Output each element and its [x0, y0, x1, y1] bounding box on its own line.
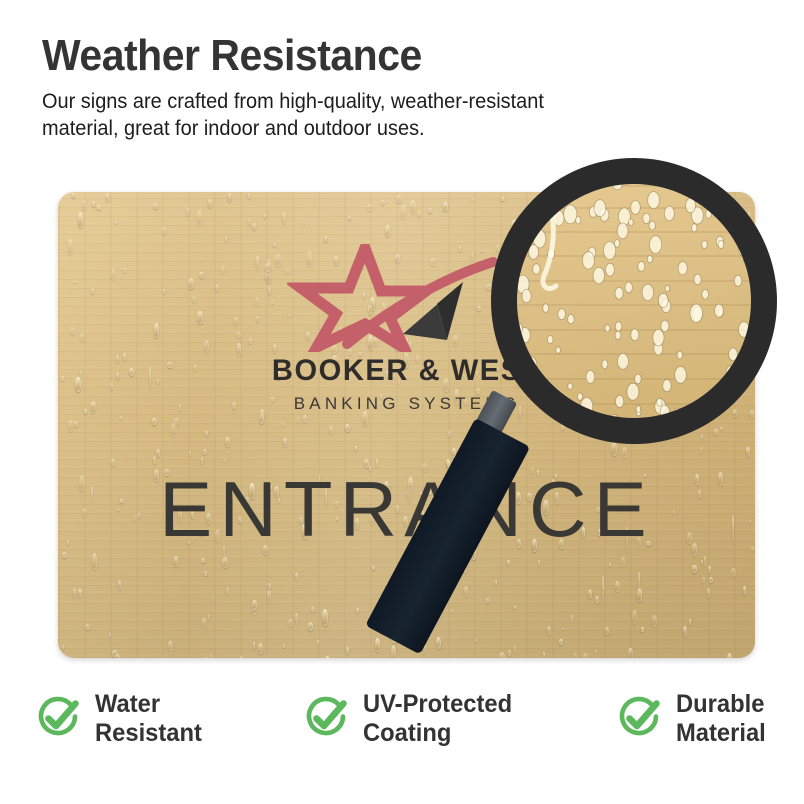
- water-droplet: [82, 200, 86, 210]
- water-droplet: [452, 448, 456, 459]
- water-droplet: [464, 586, 468, 597]
- water-droplet: [355, 446, 357, 451]
- water-droplet: [391, 637, 397, 644]
- water-droplet: [731, 568, 736, 576]
- water-droplet: [710, 230, 712, 235]
- water-droplet: [258, 643, 263, 654]
- feature-label: UV-Protected Coating: [363, 690, 512, 748]
- water-droplet: [633, 428, 637, 433]
- water-droplet: [208, 199, 212, 208]
- water-droplet: [74, 421, 78, 427]
- feature-label-line2: Coating: [363, 719, 512, 748]
- water-droplet: [280, 225, 282, 227]
- water-droplet: [559, 639, 564, 645]
- water-droplet: [436, 637, 441, 649]
- water-droplet: [401, 205, 407, 220]
- water-droplet: [385, 225, 391, 237]
- water-droplet: [254, 613, 256, 616]
- water-droplet: [499, 652, 504, 658]
- water-droplet: [479, 427, 482, 435]
- check-circle-icon: [615, 693, 665, 743]
- water-droplet: [253, 642, 255, 648]
- water-droplet: [223, 458, 226, 461]
- water-droplet: [259, 414, 265, 425]
- water-droplet: [679, 426, 681, 430]
- water-droplet: [240, 656, 243, 658]
- water-droplet: [662, 196, 665, 204]
- water-droplet: [486, 598, 489, 603]
- water-droplet: [700, 447, 702, 453]
- water-droplet: [203, 449, 207, 455]
- check-circle-icon: [34, 693, 84, 743]
- water-droplet: [465, 452, 468, 457]
- water-droplet: [615, 229, 620, 244]
- water-droplet: [637, 588, 642, 602]
- water-droplet: [252, 223, 255, 229]
- water-droplet: [202, 618, 206, 629]
- water-droplet: [707, 588, 711, 597]
- water-droplet: [153, 203, 158, 209]
- water-droplet: [386, 582, 391, 593]
- water-droplet: [85, 624, 90, 630]
- water-droplet: [208, 615, 210, 619]
- water-droplet: [348, 216, 352, 221]
- feature-label: Water Resistant: [95, 690, 202, 748]
- water-droplet: [451, 609, 453, 613]
- water-droplet: [152, 418, 157, 425]
- water-droplet: [709, 577, 714, 583]
- water-droplet: [514, 646, 516, 653]
- water-streak: [638, 572, 640, 591]
- water-droplet: [683, 626, 687, 637]
- water-droplet: [682, 221, 685, 225]
- lens-water-droplet: [612, 175, 622, 190]
- water-droplet: [588, 589, 592, 599]
- water-droplet: [632, 610, 637, 624]
- water-droplet: [743, 586, 746, 595]
- water-droplet: [391, 645, 397, 658]
- water-droplet: [168, 641, 173, 651]
- water-droplet: [118, 580, 121, 590]
- water-droplet: [174, 418, 179, 425]
- water-droplet: [62, 552, 67, 558]
- water-droplet: [197, 210, 202, 225]
- water-droplet: [303, 415, 307, 423]
- water-droplet: [566, 229, 568, 234]
- water-droplet: [115, 220, 117, 224]
- water-droplet: [628, 648, 632, 658]
- water-droplet: [62, 645, 64, 649]
- water-droplet: [264, 214, 266, 218]
- water-droplet: [615, 581, 620, 592]
- water-droplet: [325, 656, 331, 658]
- water-droplet: [622, 447, 627, 458]
- star-swoosh-icon: [287, 244, 527, 352]
- feature-label-line2: Material: [676, 719, 766, 748]
- water-droplet: [547, 626, 551, 635]
- water-droplet: [317, 640, 319, 645]
- brand-tagline: BANKING SYSTEMS: [58, 394, 755, 414]
- sign-board: BOOKER & WEST BANKING SYSTEMS ENTRANCE: [58, 192, 755, 658]
- water-droplet: [381, 200, 386, 206]
- water-droplet: [186, 207, 189, 216]
- water-droplet: [153, 456, 156, 464]
- water-droplet: [751, 547, 754, 551]
- water-droplet: [156, 449, 160, 457]
- water-droplet: [508, 650, 511, 656]
- water-droplet: [621, 430, 626, 437]
- water-droplet: [410, 200, 415, 214]
- water-droplet: [428, 208, 431, 213]
- water-droplet: [702, 208, 705, 215]
- water-droplet: [112, 650, 118, 658]
- water-droplet: [605, 627, 609, 635]
- water-droplet: [248, 218, 251, 225]
- water-droplet: [288, 619, 293, 628]
- water-droplet: [212, 597, 214, 601]
- water-droplet: [268, 583, 271, 589]
- water-droplet: [78, 589, 81, 597]
- water-droplet: [201, 458, 204, 464]
- water-droplet: [689, 619, 691, 625]
- water-droplet: [171, 423, 177, 438]
- water-droplet: [701, 435, 703, 440]
- water-droplet: [574, 653, 577, 658]
- water-droplet: [282, 423, 284, 426]
- water-droplet: [120, 416, 123, 421]
- water-droplet: [226, 587, 229, 595]
- water-droplet: [222, 557, 227, 568]
- water-droplet: [283, 644, 285, 648]
- water-droplet: [475, 639, 477, 642]
- water-droplet: [487, 446, 489, 451]
- water-droplet: [111, 459, 116, 466]
- water-droplet: [448, 431, 451, 438]
- water-droplet: [308, 622, 313, 631]
- water-droplet: [472, 198, 474, 201]
- water-streak: [295, 613, 298, 624]
- water-droplet: [205, 431, 208, 436]
- water-droplet: [372, 566, 375, 570]
- water-droplet: [561, 425, 564, 430]
- water-droplet: [641, 627, 644, 632]
- water-droplet: [418, 211, 420, 217]
- water-droplet: [675, 423, 678, 427]
- water-droplet: [282, 212, 287, 226]
- sign-main-text: ENTRANCE: [58, 470, 755, 548]
- water-droplet: [267, 590, 272, 602]
- water-droplet: [538, 560, 541, 565]
- water-droplet: [689, 200, 693, 206]
- page-title: Weather Resistance: [42, 30, 684, 82]
- water-droplet: [692, 565, 696, 573]
- water-droplet: [609, 563, 611, 567]
- water-droplet: [511, 220, 516, 231]
- water-droplet: [253, 609, 255, 613]
- subtitle-line-1: Our signs are crafted from high-quality,…: [42, 88, 698, 115]
- water-droplet: [676, 428, 680, 438]
- water-droplet: [700, 216, 703, 221]
- water-droplet: [92, 201, 95, 207]
- water-droplet: [248, 193, 250, 199]
- water-droplet: [396, 195, 401, 204]
- water-streak: [748, 211, 750, 225]
- company-logo: BOOKER & WEST BANKING SYSTEMS: [58, 244, 755, 414]
- feature-label: Durable Material: [676, 690, 766, 748]
- water-droplet: [106, 193, 109, 203]
- water-droplet: [604, 222, 607, 225]
- water-droplet: [201, 558, 205, 563]
- water-droplet: [501, 197, 504, 201]
- water-droplet: [570, 615, 573, 622]
- water-droplet: [97, 205, 101, 210]
- water-droplet: [507, 560, 510, 566]
- water-droplet: [595, 650, 597, 653]
- water-droplet: [727, 653, 732, 658]
- water-droplet: [92, 553, 98, 569]
- water-droplet: [225, 237, 227, 241]
- water-droplet: [72, 193, 75, 198]
- feature-badge-row: Water Resistant UV-Protected Coating Dur…: [0, 690, 804, 770]
- water-droplet: [73, 588, 76, 597]
- water-droplet: [228, 193, 231, 202]
- water-droplet: [162, 227, 167, 235]
- water-droplet: [109, 633, 111, 636]
- page-subtitle: Our signs are crafted from high-quality,…: [42, 88, 698, 142]
- water-droplet: [78, 212, 84, 227]
- water-droplet: [652, 615, 657, 627]
- water-droplet: [464, 568, 466, 573]
- water-droplet: [189, 451, 191, 456]
- header-block: Weather Resistance Our signs are crafted…: [42, 30, 732, 142]
- feature-label-line1: Water: [95, 690, 202, 719]
- water-streak: [602, 576, 604, 607]
- water-droplet: [611, 442, 616, 456]
- water-droplet: [225, 437, 230, 447]
- water-droplet: [514, 606, 516, 610]
- water-droplet: [68, 420, 73, 433]
- water-droplet: [720, 427, 723, 430]
- water-droplet: [611, 227, 614, 235]
- water-droplet: [623, 215, 625, 218]
- water-droplet: [174, 556, 179, 567]
- water-droplet: [295, 573, 298, 580]
- water-droplet: [252, 600, 257, 610]
- water-droplet: [303, 221, 305, 224]
- water-droplet: [401, 622, 405, 631]
- water-droplet: [562, 628, 564, 630]
- water-droplet: [324, 236, 327, 242]
- water-droplet: [495, 580, 497, 585]
- product-feature-graphic: Weather Resistance Our signs are crafted…: [0, 0, 804, 804]
- water-droplet: [543, 652, 545, 658]
- water-droplet: [205, 657, 208, 658]
- star-emblem: [58, 244, 755, 352]
- water-droplet: [697, 223, 702, 230]
- water-droplet: [701, 560, 703, 564]
- water-streak: [704, 556, 706, 567]
- water-droplet: [329, 426, 333, 434]
- water-droplet: [283, 438, 288, 447]
- water-droplet: [583, 653, 588, 658]
- lens-water-droplet: [610, 175, 616, 184]
- feature-label-line1: Durable: [676, 690, 766, 719]
- water-droplet: [422, 644, 426, 654]
- water-droplet: [204, 571, 207, 576]
- water-droplet: [746, 447, 750, 456]
- water-droplet: [346, 647, 350, 654]
- water-droplet: [345, 424, 350, 431]
- feature-label-line1: UV-Protected: [363, 690, 512, 719]
- water-droplet: [708, 566, 711, 573]
- water-droplet: [528, 216, 530, 218]
- water-droplet: [542, 206, 544, 212]
- water-droplet: [375, 638, 380, 653]
- brand-name: BOOKER & WEST: [68, 354, 744, 388]
- water-droplet: [702, 577, 705, 584]
- check-circle-icon: [302, 693, 352, 743]
- water-droplet: [621, 557, 626, 566]
- water-droplet: [170, 652, 172, 654]
- water-droplet: [210, 654, 213, 658]
- water-droplet: [714, 429, 717, 435]
- feature-badge: Durable Material: [615, 690, 770, 748]
- water-droplet: [439, 573, 443, 580]
- water-droplet: [311, 607, 314, 611]
- feature-badge: UV-Protected Coating: [302, 690, 520, 748]
- water-droplet: [604, 586, 606, 590]
- water-droplet: [322, 609, 328, 625]
- water-droplet: [356, 608, 359, 613]
- feature-badge: Water Resistant: [34, 690, 208, 748]
- water-droplet: [297, 417, 299, 423]
- water-droplet: [552, 237, 557, 243]
- water-droplet: [115, 654, 120, 658]
- feature-label-line2: Resistant: [95, 719, 202, 748]
- water-droplet: [367, 204, 371, 211]
- subtitle-line-2: material, great for indoor and outdoor u…: [42, 115, 698, 142]
- water-droplet: [595, 596, 599, 605]
- water-droplet: [443, 202, 448, 212]
- water-droplet: [387, 618, 390, 627]
